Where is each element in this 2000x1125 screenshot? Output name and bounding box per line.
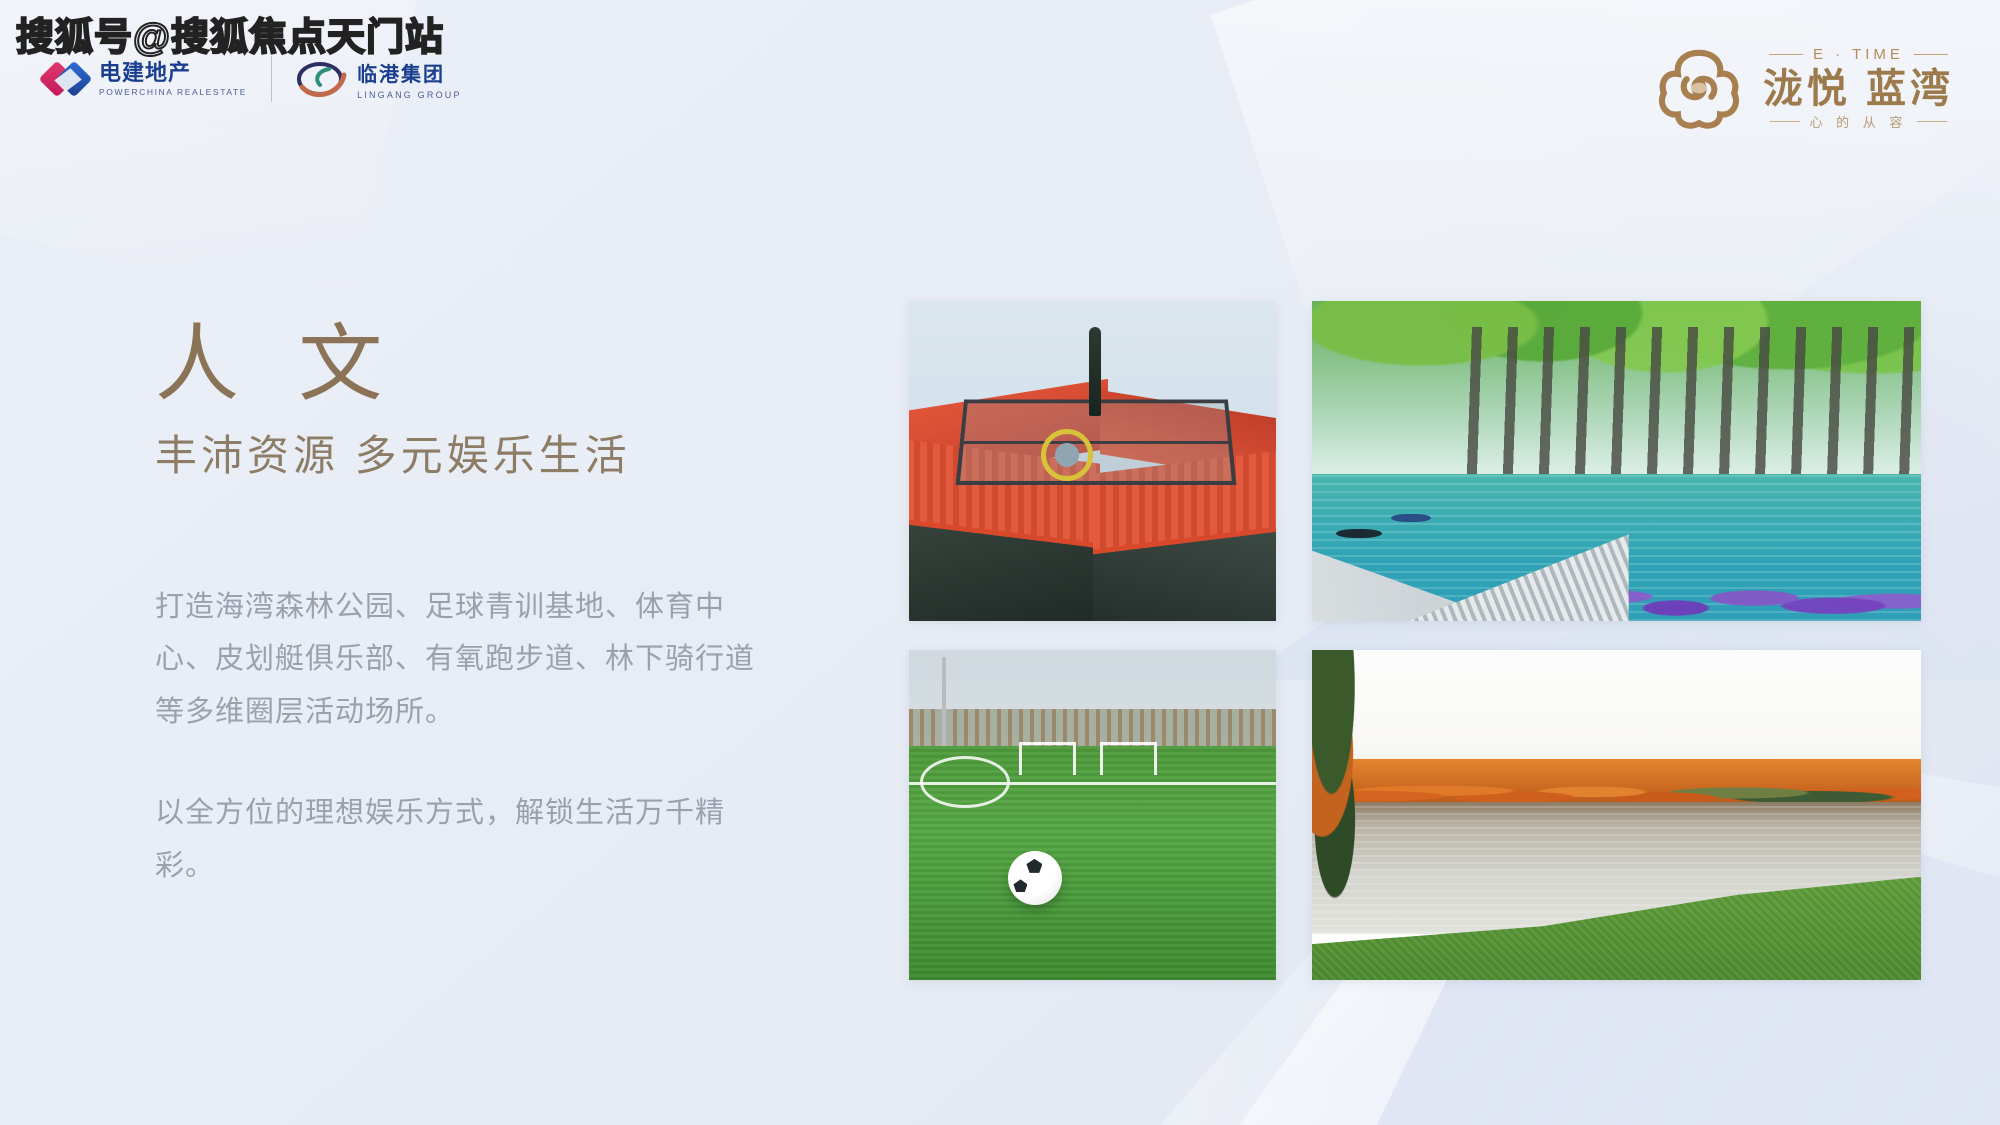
powerchina-diamond-icon [44, 58, 90, 100]
page-title: 人 文 [155, 320, 775, 408]
page-subtitle: 丰沛资源 多元娱乐生活 [155, 430, 775, 483]
brand-name-cn: 泷悦 蓝湾 [1763, 69, 1954, 109]
lingang-swirl-icon [296, 57, 348, 101]
gallery-image-autumn-lake[interactable] [1312, 650, 1921, 980]
soccer-ball-icon [1008, 851, 1062, 905]
gallery-image-forest-canal[interactable] [1312, 301, 1921, 621]
lingang-logo: 临港集团 LINGANG GROUP [296, 57, 462, 101]
lingang-name-en: LINGANG GROUP [357, 90, 462, 100]
powerchina-name-en: POWERCHINA REALESTATE [99, 87, 247, 97]
image-gallery-grid [909, 301, 1921, 980]
slide-canvas: 搜狐号@搜狐焦点天门站 电建地产 POWERCHINA REALESTATE 临… [0, 0, 2000, 1125]
developer-logo-group: 电建地产 POWERCHINA REALESTATE 临港集团 LINGANG … [44, 56, 462, 102]
ship-wheel-ornament-icon [1041, 429, 1093, 481]
powerchina-logo: 电建地产 POWERCHINA REALESTATE [44, 58, 247, 100]
body-paragraph-2: 以全方位的理想娱乐方式，解锁生活万千精彩。 [155, 787, 775, 893]
brand-tagline-en: E · TIME [1763, 46, 1954, 63]
watermark-text: 搜狐号@搜狐焦点天门站 [16, 6, 444, 61]
etime-knot-emblem-icon [1653, 44, 1745, 132]
text-column: 人 文 丰沛资源 多元娱乐生活 打造海湾森林公园、足球青训基地、体育中心、皮划艇… [155, 320, 775, 893]
brand-slogan-cn: 心 的 从 容 [1763, 112, 1954, 131]
gallery-image-container-clubhouse[interactable] [909, 301, 1276, 621]
body-paragraph-1: 打造海湾森林公园、足球青训基地、体育中心、皮划艇俱乐部、有氧跑步道、林下骑行道等… [155, 581, 775, 739]
powerchina-name-cn: 电建地产 [99, 61, 247, 84]
lingang-name-cn: 临港集团 [357, 58, 462, 87]
logo-divider [271, 56, 272, 102]
brand-logo-group: E · TIME 泷悦 蓝湾 心 的 从 容 [1653, 44, 1954, 132]
gallery-image-football-pitch[interactable] [909, 650, 1276, 980]
